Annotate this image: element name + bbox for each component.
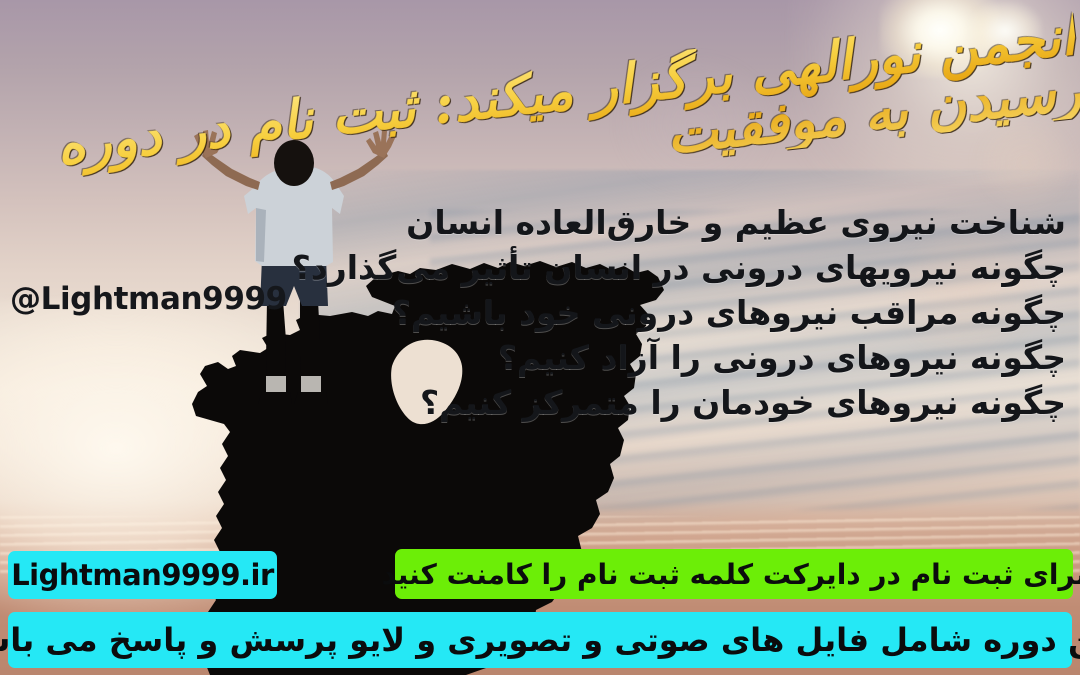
course-info-bar: این دوره شامل فایل های صوتی و تصویری و ل… <box>8 612 1072 668</box>
course-info-label: این دوره شامل فایل های صوتی و تصویری و ل… <box>0 621 1080 659</box>
figure-left-hand <box>194 130 224 158</box>
figure-left-shoe <box>258 392 292 404</box>
course-topic-line: چگونه مراقب نیروهای درونی خود باشیم؟ <box>306 290 1066 335</box>
course-topics-list: شناخت نیروی عظیم و خارق‌العاده انسان چگو… <box>306 200 1066 425</box>
cta-comment-label: برای ثبت نام در دایرکت کلمه ثبت نام را ک… <box>382 558 1080 591</box>
figure-right-hand <box>366 130 396 158</box>
course-topic-line: چگونه نیروهای درونی را آزاد کنیم؟ <box>306 335 1066 380</box>
figure-left-sock <box>266 376 286 394</box>
social-handle-watermark: @Lightman9999 <box>10 281 287 317</box>
website-badge-label: Lightman9999.ir <box>11 558 274 592</box>
figure-right-arm <box>330 150 388 190</box>
course-topic-line: چگونه نیرویهای درونی در انسان تأثیر می‌گ… <box>306 245 1066 290</box>
cta-comment-bar[interactable]: برای ثبت نام در دایرکت کلمه ثبت نام را ک… <box>395 549 1073 599</box>
figure-left-arm <box>202 150 260 190</box>
website-badge[interactable]: Lightman9999.ir <box>8 551 277 599</box>
poster-canvas: انجمن نورالهی برگزار میکند: ثبت نام در د… <box>0 0 1080 675</box>
course-topic-line: شناخت نیروی عظیم و خارق‌العاده انسان <box>306 200 1066 245</box>
course-topic-line: چگونه نیروهای خودمان را متمرکز کنیم؟ <box>306 380 1066 425</box>
figure-head <box>274 140 314 186</box>
